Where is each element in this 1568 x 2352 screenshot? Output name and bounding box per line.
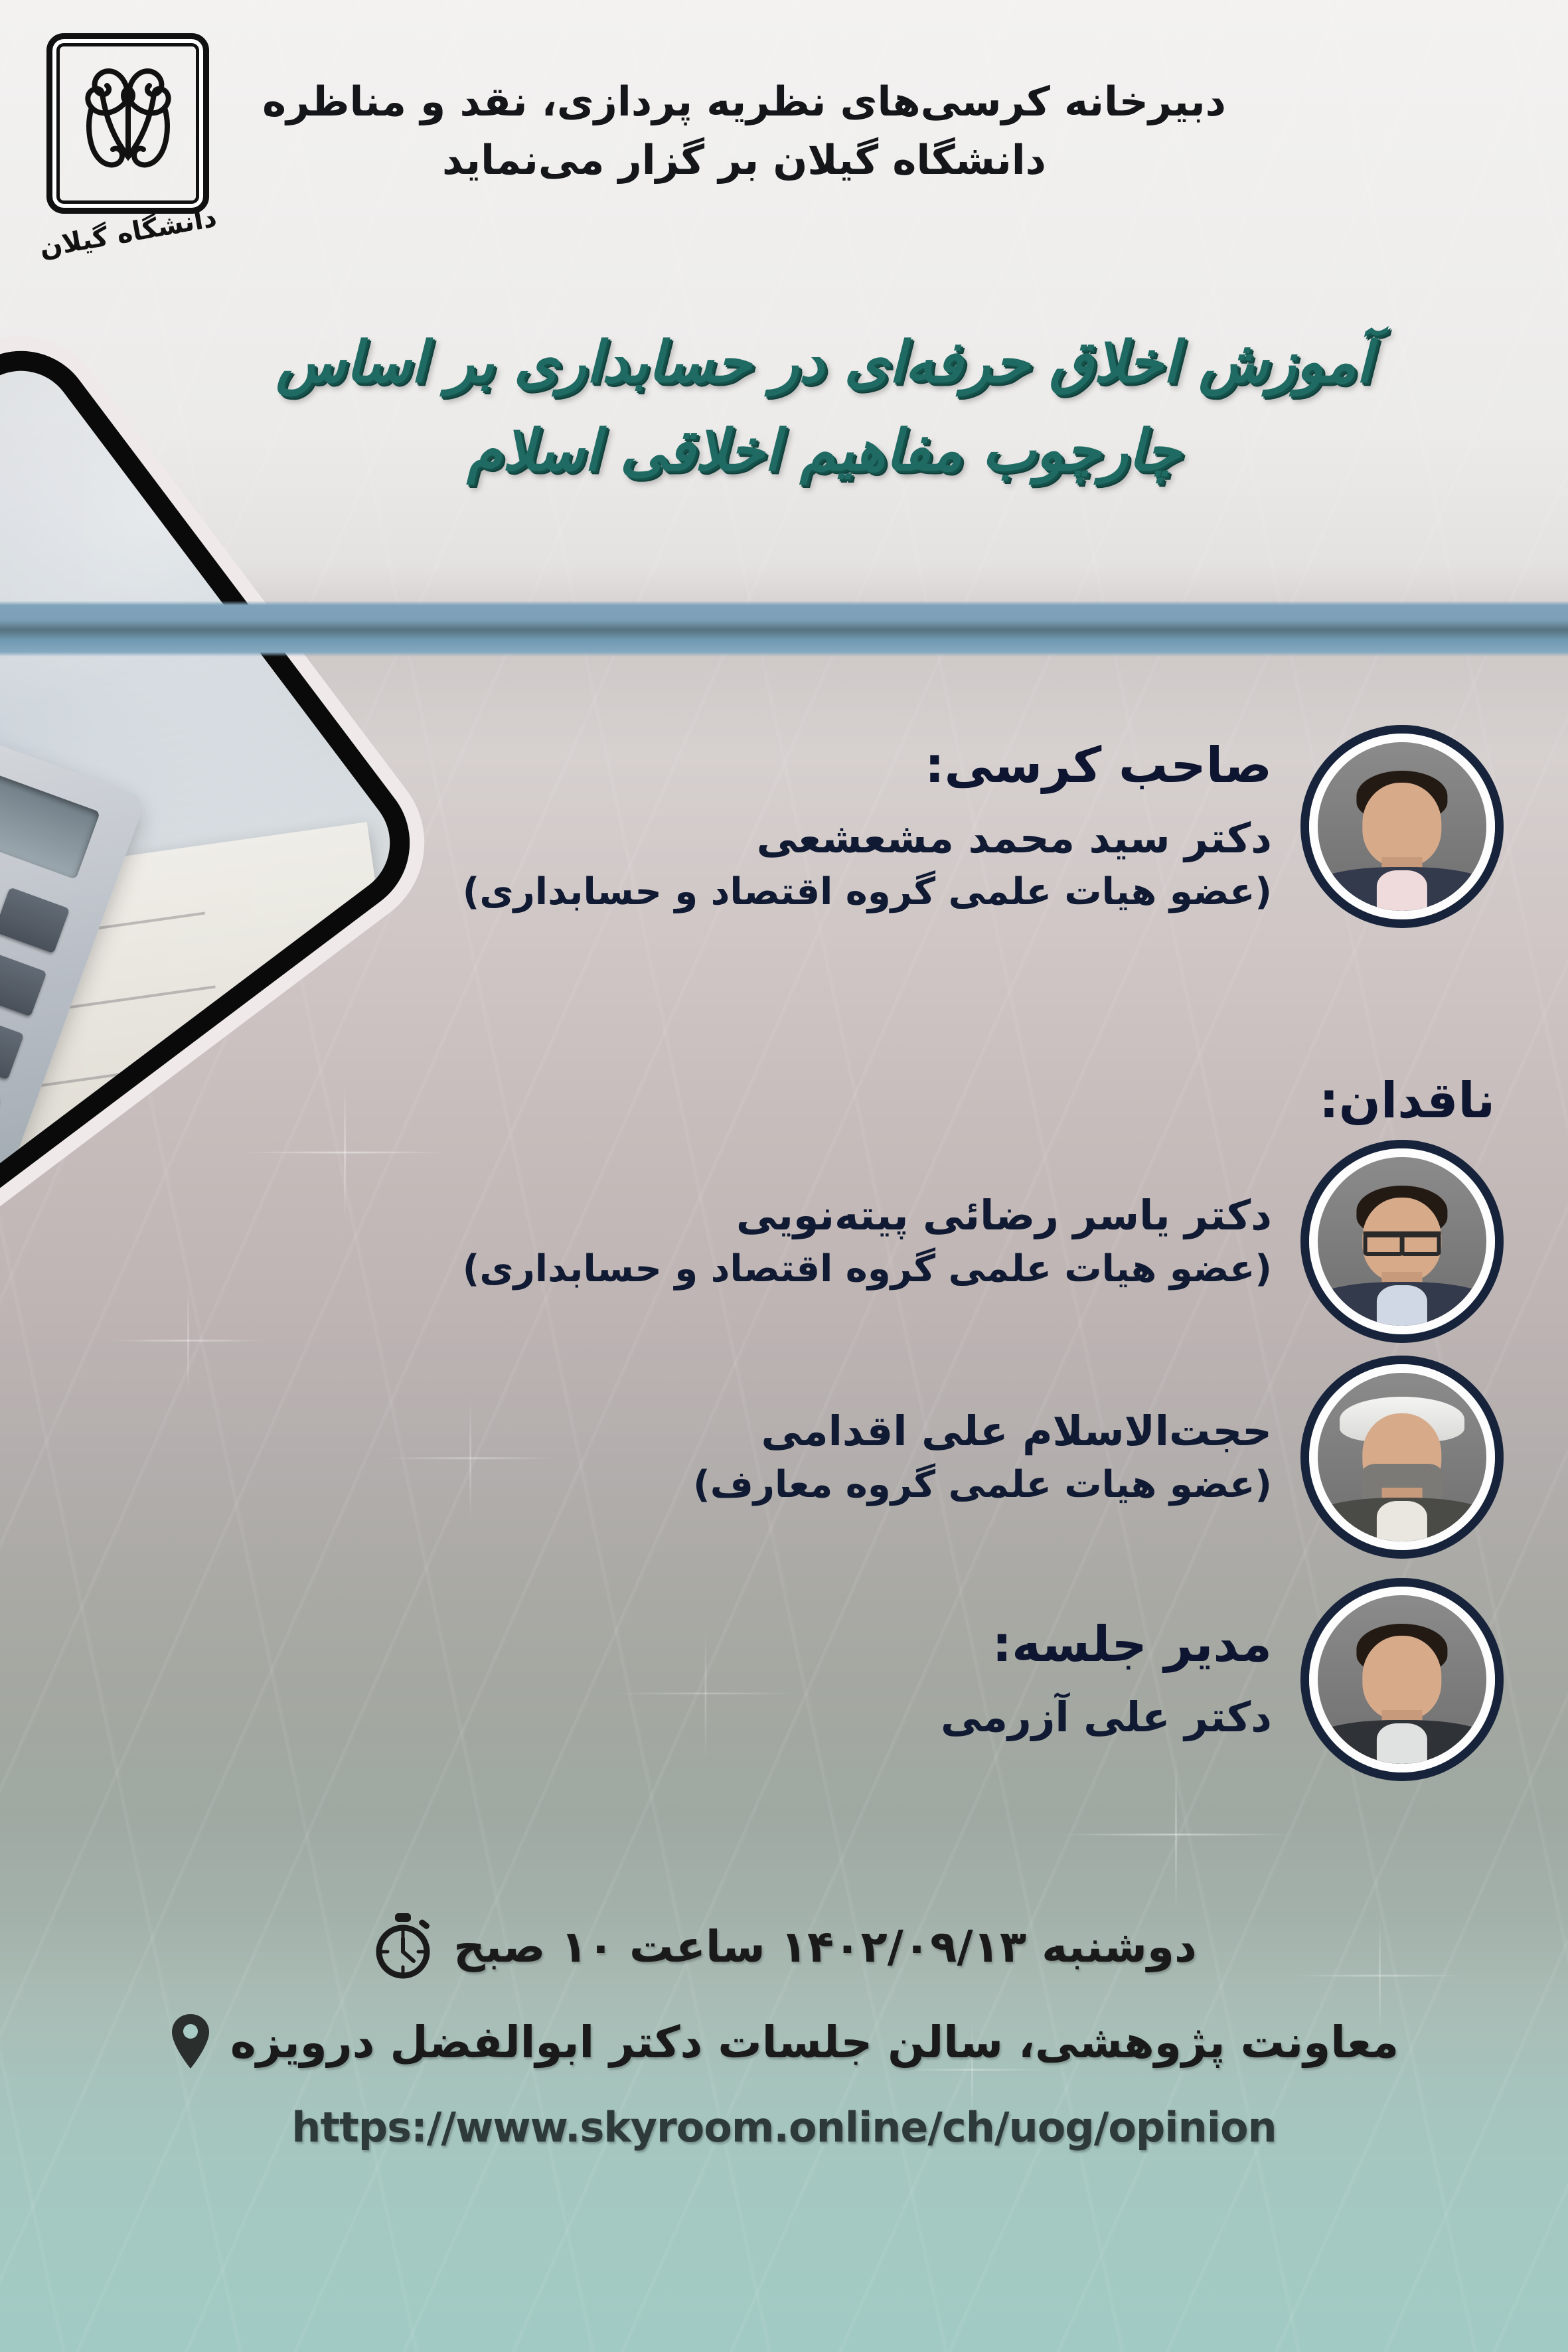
chair-holder-block: صاحب کرسی: دکتر سید محمد مشعشعی (عضو هیا… [463,734,1495,919]
event-title-line-2: چارچوب مفاهیم اخلاقی اسلام [119,407,1528,495]
gilan-emblem-icon [72,57,185,190]
portrait-illustration [1318,1373,1486,1541]
glasses-icon [1364,1231,1441,1250]
organizer-line-2: دانشگاه گیلان بر گزار می‌نماید [173,131,1316,190]
header-divider-band [0,601,1568,657]
chair-holder-affiliation: (عضو هیات علمی گروه اقتصاد و حسابداری) [463,866,1272,918]
critics-heading: ناقدان: [1319,1072,1495,1129]
calculator-screen [0,673,100,880]
event-title: آموزش اخلاق حرفه‌ای در حسابداری بر اساس … [119,319,1528,496]
portrait-illustration [1318,742,1486,911]
datetime-row: دوشنبه ۱۴۰۲/۰۹/۱۳ ساعت ۱۰ صبح [0,1912,1568,1981]
stopwatch-icon [371,1912,435,1981]
location-text: معاونت پژوهشی، سالن جلسات دکتر ابوالفضل … [230,2017,1399,2068]
avatar-critic-2 [1309,1364,1495,1550]
critic-2-name: حجت‌الاسلام علی اقدامی [693,1403,1272,1459]
map-pin-icon [169,2011,212,2073]
critic-2-block: حجت‌الاسلام علی اقدامی (عضو هیات علمی گر… [693,1364,1495,1550]
organizer-header: دبیرخانه کرسی‌های نظریه پردازی، نقد و من… [173,73,1316,191]
meeting-url[interactable]: https://www.skyroom.online/ch/uog/opinio… [0,2103,1568,2152]
critic-1-name: دکتر یاسر رضائی پیته‌نویی [463,1188,1272,1243]
event-footer: دوشنبه ۱۴۰۲/۰۹/۱۳ ساعت ۱۰ صبح معاونت پژو… [0,1912,1568,2152]
event-title-line-1: آموزش اخلاق حرفه‌ای در حسابداری بر اساس [119,319,1528,407]
portrait-illustration [1318,1595,1486,1764]
organizer-line-1: دبیرخانه کرسی‌های نظریه پردازی، نقد و من… [173,73,1316,131]
critic-2-affiliation: (عضو هیات علمی گروه معارف) [693,1459,1272,1511]
critic-1-affiliation: (عضو هیات علمی گروه اقتصاد و حسابداری) [463,1243,1272,1295]
avatar-moderator [1309,1587,1495,1772]
moderator-block: مدیر جلسه: دکتر علی آزرمی [941,1587,1495,1772]
moderator-name: دکتر علی آزرمی [941,1689,1272,1745]
chair-holder-name: دکتر سید محمد مشعشعی [463,811,1272,866]
critic-1-block: دکتر یاسر رضائی پیته‌نویی (عضو هیات علمی… [463,1148,1495,1334]
portrait-illustration [1318,1157,1486,1326]
datetime-text: دوشنبه ۱۴۰۲/۰۹/۱۳ ساعت ۱۰ صبح [453,1921,1197,1972]
chair-holder-role: صاحب کرسی: [463,735,1272,797]
event-poster: دانشگاه گیلان دبیرخانه کرسی‌های نظریه پر… [0,0,1568,2352]
moderator-role: مدیر جلسه: [941,1614,1272,1676]
avatar-critic-1 [1309,1148,1495,1334]
location-row: معاونت پژوهشی، سالن جلسات دکتر ابوالفضل … [0,2011,1568,2073]
avatar-chair-holder [1309,734,1495,919]
